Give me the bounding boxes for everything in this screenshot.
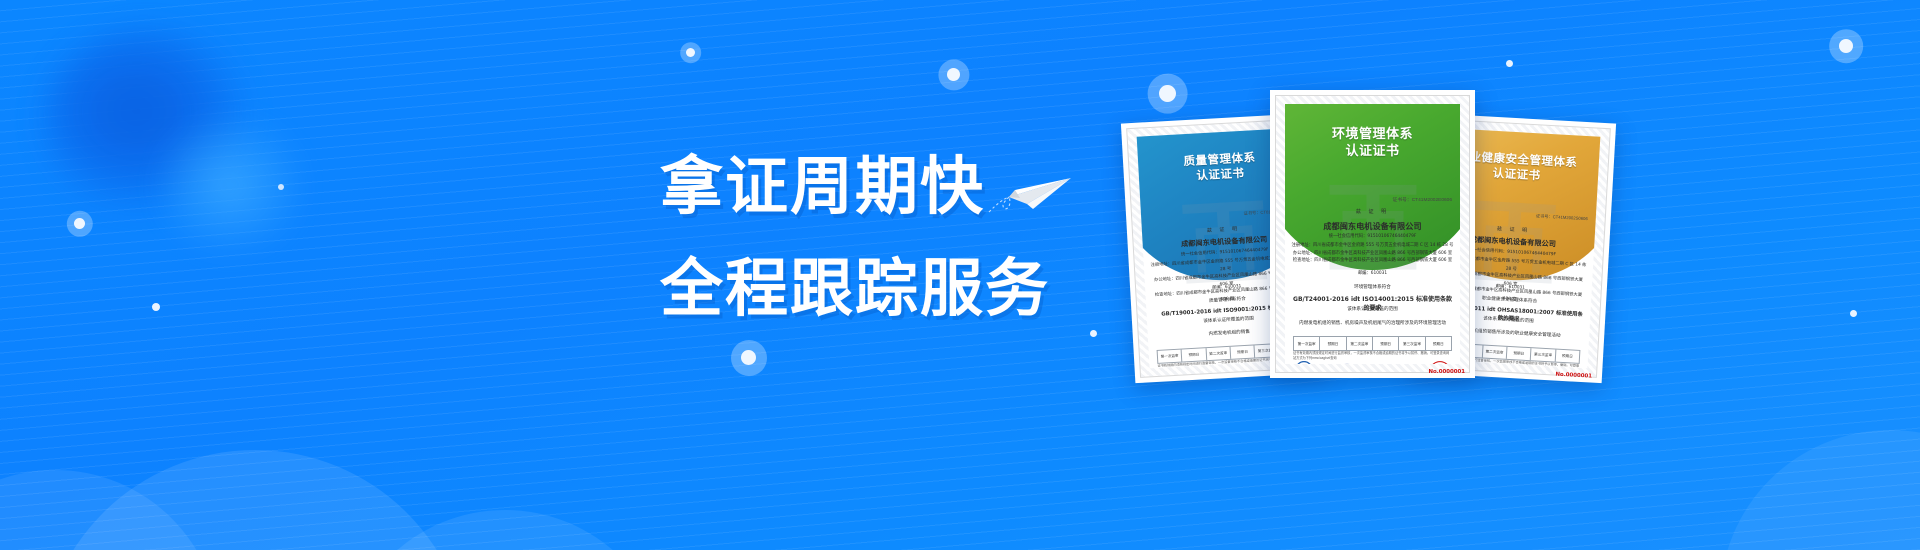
decorative-dot [947, 68, 960, 81]
audit-cell: 预期日 [1555, 350, 1579, 363]
red-seal-stamp [1428, 360, 1452, 364]
decorative-circle-b [40, 450, 470, 550]
certificate-zip: 邮编：610031 [1291, 270, 1454, 278]
certificate-scope: 内燃发电机组的销售、机房噪声及机组尾气的治理所涉及的环境管理活动 [1291, 320, 1454, 327]
audit-cell: 第三次监审 [1399, 337, 1425, 350]
decorative-circle-c [340, 510, 670, 550]
certificate-border: 环境管理体系 认证证书 证书号：CT41M2002E0606 兹 证 明 成都闽… [1275, 95, 1470, 373]
certificate-credit-code: 统一社会信用代码：91510106746440479F [1291, 233, 1454, 241]
decorative-dot [1506, 60, 1513, 67]
certificate-address-registered: 注册地址：四川省成都市金牛区金府路 555 号万贯五金机电城二期 C 区 14 … [1291, 242, 1454, 250]
audit-cell: 第一次监审 [1294, 337, 1320, 350]
certificate-title-line2: 认证证书 [1285, 143, 1460, 160]
audit-cell: 第一次监审 [1158, 350, 1183, 363]
decorative-dot [152, 303, 160, 311]
audit-cell: 预期日 [1507, 347, 1532, 360]
promo-banner: 拿证周期快 全程跟踪服务 质量管理体系 认证证书 [0, 0, 1920, 550]
certificate-address-office: 办公地址：四川省成都市金牛区高科技产业区凤凰山路 866 号西部钢铁大厦 606… [1291, 250, 1454, 258]
certificate-company: 成都闽东电机设备有限公司 [1291, 220, 1454, 232]
decorative-dot [74, 218, 85, 229]
iaf-logo: IAF [1333, 363, 1361, 365]
certificate-title-line1: 环境管理体系 [1285, 126, 1460, 143]
decorative-circle-a [0, 470, 220, 550]
audit-cell: 第二次监审 [1347, 337, 1373, 350]
headline-line-2: 全程跟踪服务 [660, 245, 1050, 333]
certificate-body: 环境管理体系 认证证书 证书号：CT41M2002E0606 兹 证 明 成都闽… [1285, 104, 1460, 364]
cnca-logo: 中国认证 [1293, 360, 1315, 364]
certificate-audit-grid: 第一次监审 预期日 第二次监审 预期日 第三次监审 预期日 [1293, 336, 1452, 351]
certificate-address-inspection: 检查地址：四川省成都市金牛区高科技产业区凤凰山路 866 号西部钢铁大厦 606… [1291, 257, 1454, 265]
certificate-group: 质量管理体系 认证证书 证书号：CT01M2001Q0606 兹 证 明 成都闽… [1120, 70, 1910, 400]
paper-plane-icon [975, 157, 1075, 227]
certificate-serial: No.0000001 [1555, 372, 1592, 380]
audit-cell: 预期日 [1373, 337, 1399, 350]
dark-blue-glow-blob [42, 28, 252, 213]
decorative-dot [1090, 330, 1097, 337]
decorative-dot [278, 184, 284, 190]
audit-cell: 预期日 [1426, 337, 1451, 350]
certificate-title: 环境管理体系 认证证书 [1285, 126, 1460, 160]
audit-cell: 第二次监审 [1206, 347, 1231, 360]
light-blue-glow-blob [150, 110, 310, 260]
audit-cell: 第三次监审 [1531, 348, 1556, 361]
certificate-number: 证书号：CT41M2002E0606 [1393, 196, 1452, 203]
decorative-dot [741, 350, 756, 365]
decorative-dot [686, 48, 695, 57]
certificate-addresses: 注册地址：四川省成都市金牛区金府路 555 号万贯五金机电城二期 C 区 14 … [1291, 242, 1454, 265]
certificate-environment[interactable]: 环境管理体系 认证证书 证书号：CT41M2002E0606 兹 证 明 成都闽… [1270, 90, 1475, 378]
certificate-accreditation-logos: 中国认证 IAF CNAS [1293, 359, 1452, 364]
decorative-dot [1839, 39, 1853, 53]
decorative-circle-right [1720, 430, 1920, 550]
audit-cell: 预期日 [1182, 348, 1207, 361]
audit-cell: 预期日 [1231, 345, 1256, 358]
cnas-logo: CNAS [1380, 363, 1410, 364]
certificate-system-label: 环境管理体系符合 [1291, 284, 1454, 290]
certificate-proof-label: 兹 证 明 [1291, 208, 1454, 215]
audit-cell: 第二次监审 [1482, 346, 1507, 359]
certificate-serial: No.0000001 [1428, 369, 1465, 375]
certificate-coverage-label: 该体系认证所覆盖的范围 [1291, 306, 1454, 312]
audit-cell: 预期日 [1320, 337, 1346, 350]
